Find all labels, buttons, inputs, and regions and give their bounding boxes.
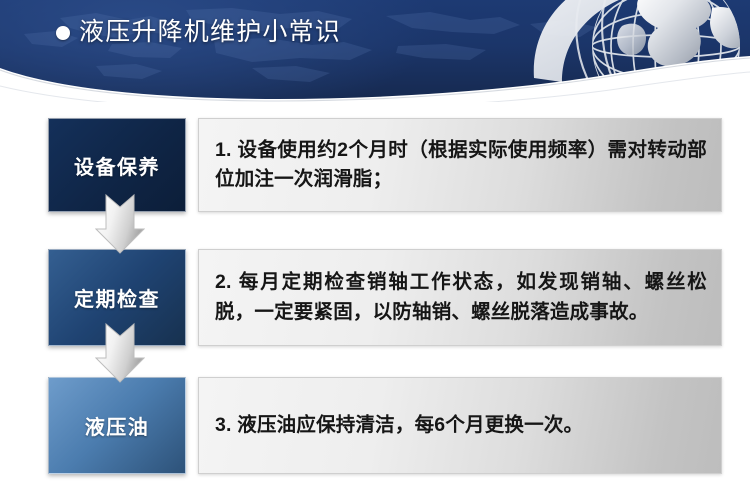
content-rows: 设备保养 1. 设备使用约2个月时（根据实际使用频率）需对转动部位加注一次润滑脂… (0, 0, 750, 495)
row-label-text: 定期检查 (74, 283, 160, 312)
header-title-text: 液压升降机维护小常识 (79, 20, 341, 45)
row-content-text: 3. 液压油应保持清洁，每6个月更换一次。 (199, 411, 597, 440)
row-label-text: 液压油 (85, 411, 150, 440)
row-content-box-1: 1. 设备使用约2个月时（根据实际使用频率）需对转动部位加注一次润滑脂； (198, 118, 722, 212)
slide-canvas: 液压升降机维护小常识 设备保养 1. 设备使用约2个月时（根据实际使用频率）需对… (0, 0, 750, 495)
down-arrow-chevron-icon (95, 193, 145, 255)
row-label-hydraulic-oil[interactable]: 液压油 (48, 377, 186, 474)
page-title: 液压升降机维护小常识 (56, 20, 341, 45)
row-content-text: 1. 设备使用约2个月时（根据实际使用频率）需对转动部位加注一次润滑脂； (199, 136, 721, 195)
down-arrow-chevron-icon (95, 322, 145, 384)
row-label-text: 设备保养 (74, 151, 160, 180)
row-content-text: 2. 每月定期检查销轴工作状态，如发现销轴、螺丝松脱，一定要紧固，以防轴销、螺丝… (199, 268, 721, 327)
maintenance-row-3: 液压油 3. 液压油应保持清洁，每6个月更换一次。 (0, 377, 750, 474)
row-content-box-3: 3. 液压油应保持清洁，每6个月更换一次。 (198, 377, 722, 474)
bullet-icon (56, 26, 70, 40)
row-content-box-2: 2. 每月定期检查销轴工作状态，如发现销轴、螺丝松脱，一定要紧固，以防轴销、螺丝… (198, 249, 722, 346)
